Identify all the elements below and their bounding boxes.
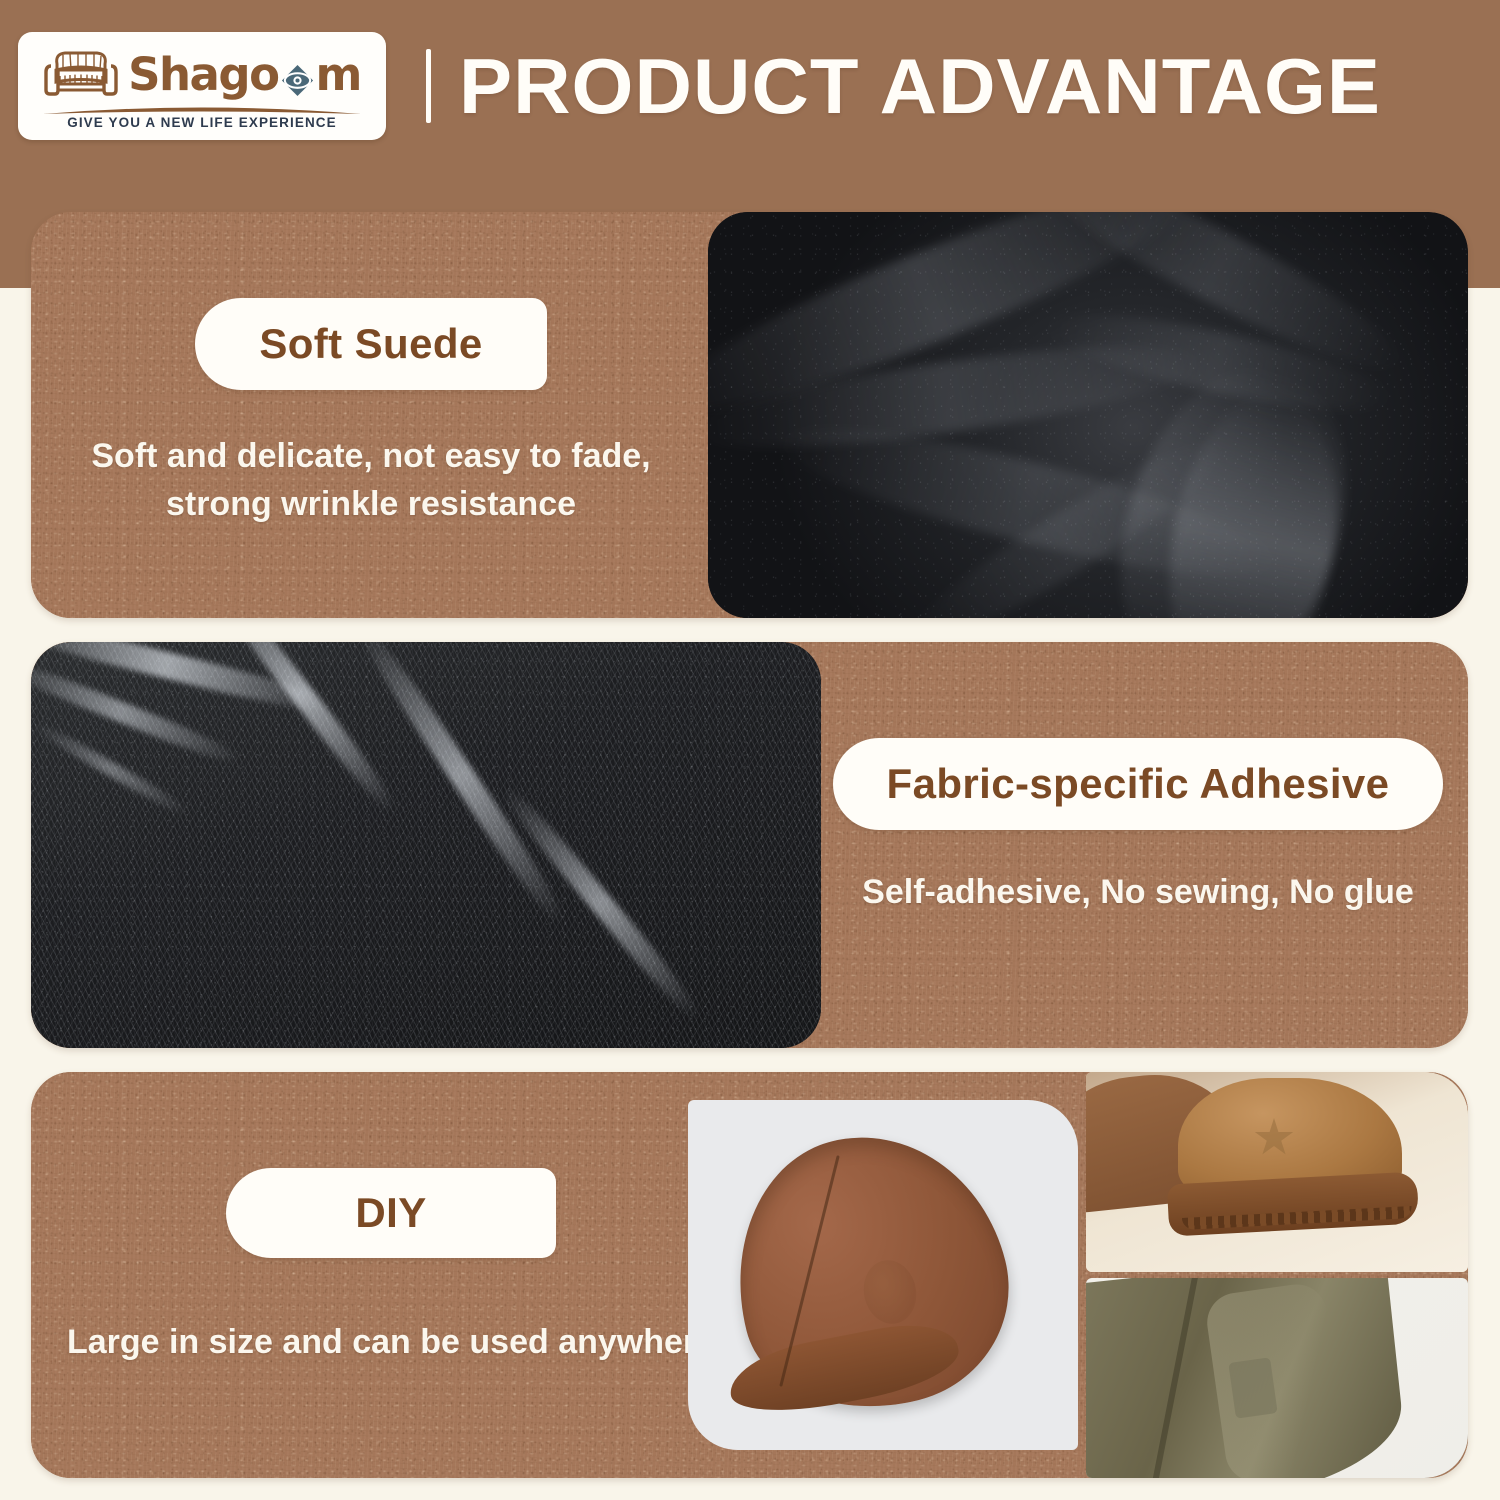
feature-title: Fabric-specific Adhesive: [887, 763, 1390, 805]
swirl-grain: [708, 212, 1468, 618]
olive-suede-garment-photo: [1086, 1278, 1468, 1478]
brand-tagline: GIVE YOU A NEW LIFE EXPERIENCE: [67, 115, 337, 130]
black-suede-swirl-photo: [708, 212, 1468, 618]
brand-logo[interactable]: Shagom GIVE YOU A NEW LIFE EXPERIENCE: [18, 32, 386, 140]
feature-card-adhesive: Fabric-specific Adhesive Self-adhesive, …: [31, 642, 1468, 1048]
logo-wordmark-row: Shagom: [43, 43, 361, 105]
header-divider: [426, 49, 431, 123]
brown-suede-flat-cap-photo: [688, 1100, 1078, 1450]
adhesive-speckle: [31, 642, 821, 1048]
header: Shagom GIVE YOU A NEW LIFE EXPERIENCE PR…: [0, 0, 1500, 172]
feature-text-column: DIY Large in size and can be used anywhe…: [31, 1168, 751, 1366]
feature-text-column: Fabric-specific Adhesive Self-adhesive, …: [808, 738, 1468, 916]
feature-description: Large in size and can be used anywhere: [31, 1318, 751, 1366]
feature-text-column: Soft Suede Soft and delicate, not easy t…: [31, 298, 711, 529]
logo-wordmark-part2: m: [316, 52, 361, 97]
feature-title-badge: Fabric-specific Adhesive: [833, 738, 1443, 830]
feature-description: Soft and delicate, not easy to fade, str…: [31, 432, 711, 529]
page-title: PRODUCT ADVANTAGE: [459, 47, 1381, 125]
feature-title-badge: DIY: [226, 1168, 556, 1258]
eye-logo-icon: [280, 60, 315, 95]
logo-wordmark: Shagom: [128, 52, 361, 97]
feature-title-badge: Soft Suede: [195, 298, 547, 390]
logo-letter-o: o: [249, 52, 278, 97]
adhesive-backing-closeup-photo: [31, 642, 821, 1048]
feature-card-soft-suede: Soft Suede Soft and delicate, not easy t…: [31, 212, 1468, 618]
tan-suede-platform-boot-photo: [1086, 1072, 1468, 1272]
feature-title: Soft Suede: [259, 323, 482, 365]
feature-description: Self-adhesive, No sewing, No glue: [808, 868, 1468, 916]
logo-wordmark-part1: Shag: [128, 52, 249, 97]
sofa-icon: [43, 46, 119, 102]
feature-title: DIY: [355, 1192, 426, 1234]
feature-card-diy: DIY Large in size and can be used anywhe…: [31, 1072, 1468, 1478]
